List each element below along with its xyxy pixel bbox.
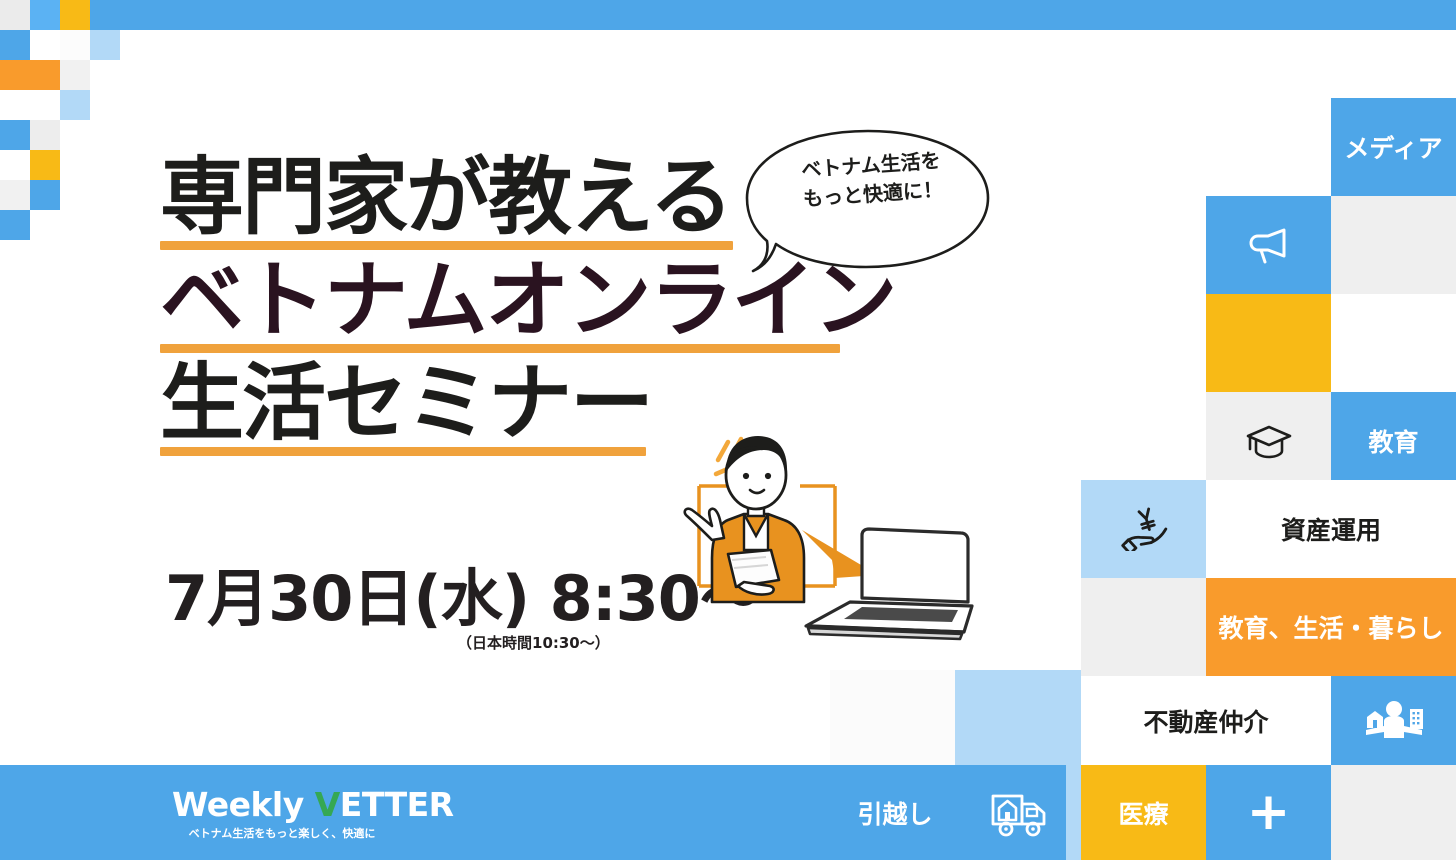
mosaic-cell: [0, 120, 30, 150]
bottom-item-truck[interactable]: [960, 765, 1080, 860]
bottom-item-moving[interactable]: 引越し: [830, 765, 960, 860]
brand-logo[interactable]: Weekly VETTER ベトナム生活をもっと楽しく、快適に: [172, 788, 392, 841]
tile-lightblue-r7: [1066, 676, 1081, 765]
mosaic-cell: [0, 60, 60, 90]
brand-logo-etter: ETTER: [340, 785, 454, 824]
decor-block-offwhite: [830, 670, 955, 765]
mosaic-cell: [30, 180, 60, 210]
mosaic-cell: [0, 0, 30, 30]
tile-asset-management[interactable]: 資産運用: [1206, 480, 1456, 578]
bottom-item-medical[interactable]: 医療: [1081, 765, 1206, 860]
tile-grey-r2: [1331, 196, 1456, 294]
laptop-icon: [806, 529, 972, 639]
speech-bubble: ベトナム生活を もっと快適に！: [735, 125, 1000, 285]
bottom-strip-grey: [1331, 765, 1456, 860]
bottom-item-medical-label: 医療: [1118, 795, 1168, 831]
presenter-illustration: [672, 420, 992, 660]
tile-education-life-label: 教育、生活・暮らし: [1218, 609, 1443, 645]
tile-real-estate-label: 不動産仲介: [1143, 703, 1268, 739]
mosaic-cell: [60, 60, 90, 90]
mosaic-cell: [60, 90, 90, 120]
brand-tagline: ベトナム生活をもっと楽しく、快適に: [172, 825, 392, 841]
poster-canvas: 専門家が教える ベトナムオンライン 生活セミナー ベトナム生活を もっと快適に！…: [0, 0, 1456, 860]
decor-block-lightblue: [955, 670, 1081, 765]
mosaic-cell: [60, 0, 90, 30]
tile-real-estate-agent[interactable]: [1331, 676, 1456, 765]
tile-media[interactable]: メディア: [1331, 98, 1456, 196]
tile-education-label: 教育: [1368, 423, 1418, 459]
bottom-item-more[interactable]: +: [1206, 765, 1331, 860]
mosaic-cell: [30, 120, 60, 150]
realestate-agent-icon: [1362, 700, 1426, 742]
brand-logo-check-v: V: [315, 785, 340, 824]
plus-icon: +: [1247, 794, 1291, 830]
tile-real-estate[interactable]: 不動産仲介: [1081, 676, 1331, 765]
mosaic-cell: [0, 210, 30, 240]
brand-logo-weekly: Weekly: [172, 785, 315, 824]
mosaic-cell: [0, 30, 30, 60]
tile-asset-management-label: 資産運用: [1281, 511, 1381, 547]
top-blue-band: [90, 0, 1456, 30]
moving-truck-icon: [989, 788, 1051, 838]
mosaic-cell: [90, 30, 120, 60]
yen-in-hand-icon: [1117, 507, 1171, 551]
tile-megaphone[interactable]: [1206, 196, 1331, 294]
brand-logo-wordmark: Weekly VETTER: [172, 788, 392, 821]
megaphone-icon: [1246, 225, 1292, 265]
tile-media-label: メディア: [1344, 129, 1442, 165]
tile-graduation[interactable]: [1206, 392, 1331, 490]
mosaic-cell: [30, 0, 60, 30]
tile-yellow-r3: [1206, 294, 1331, 392]
mosaic-cell: [60, 30, 90, 60]
graduation-cap-icon: [1245, 421, 1293, 461]
bottom-item-moving-label: 引越し: [857, 795, 932, 831]
mosaic-cell: [30, 150, 60, 180]
tile-grey-r6: [1081, 578, 1206, 676]
tile-education-life[interactable]: 教育、生活・暮らし: [1206, 578, 1456, 676]
tile-education[interactable]: 教育: [1331, 392, 1456, 490]
tile-yen-hand[interactable]: [1081, 480, 1206, 578]
mosaic-cell: [0, 180, 30, 210]
